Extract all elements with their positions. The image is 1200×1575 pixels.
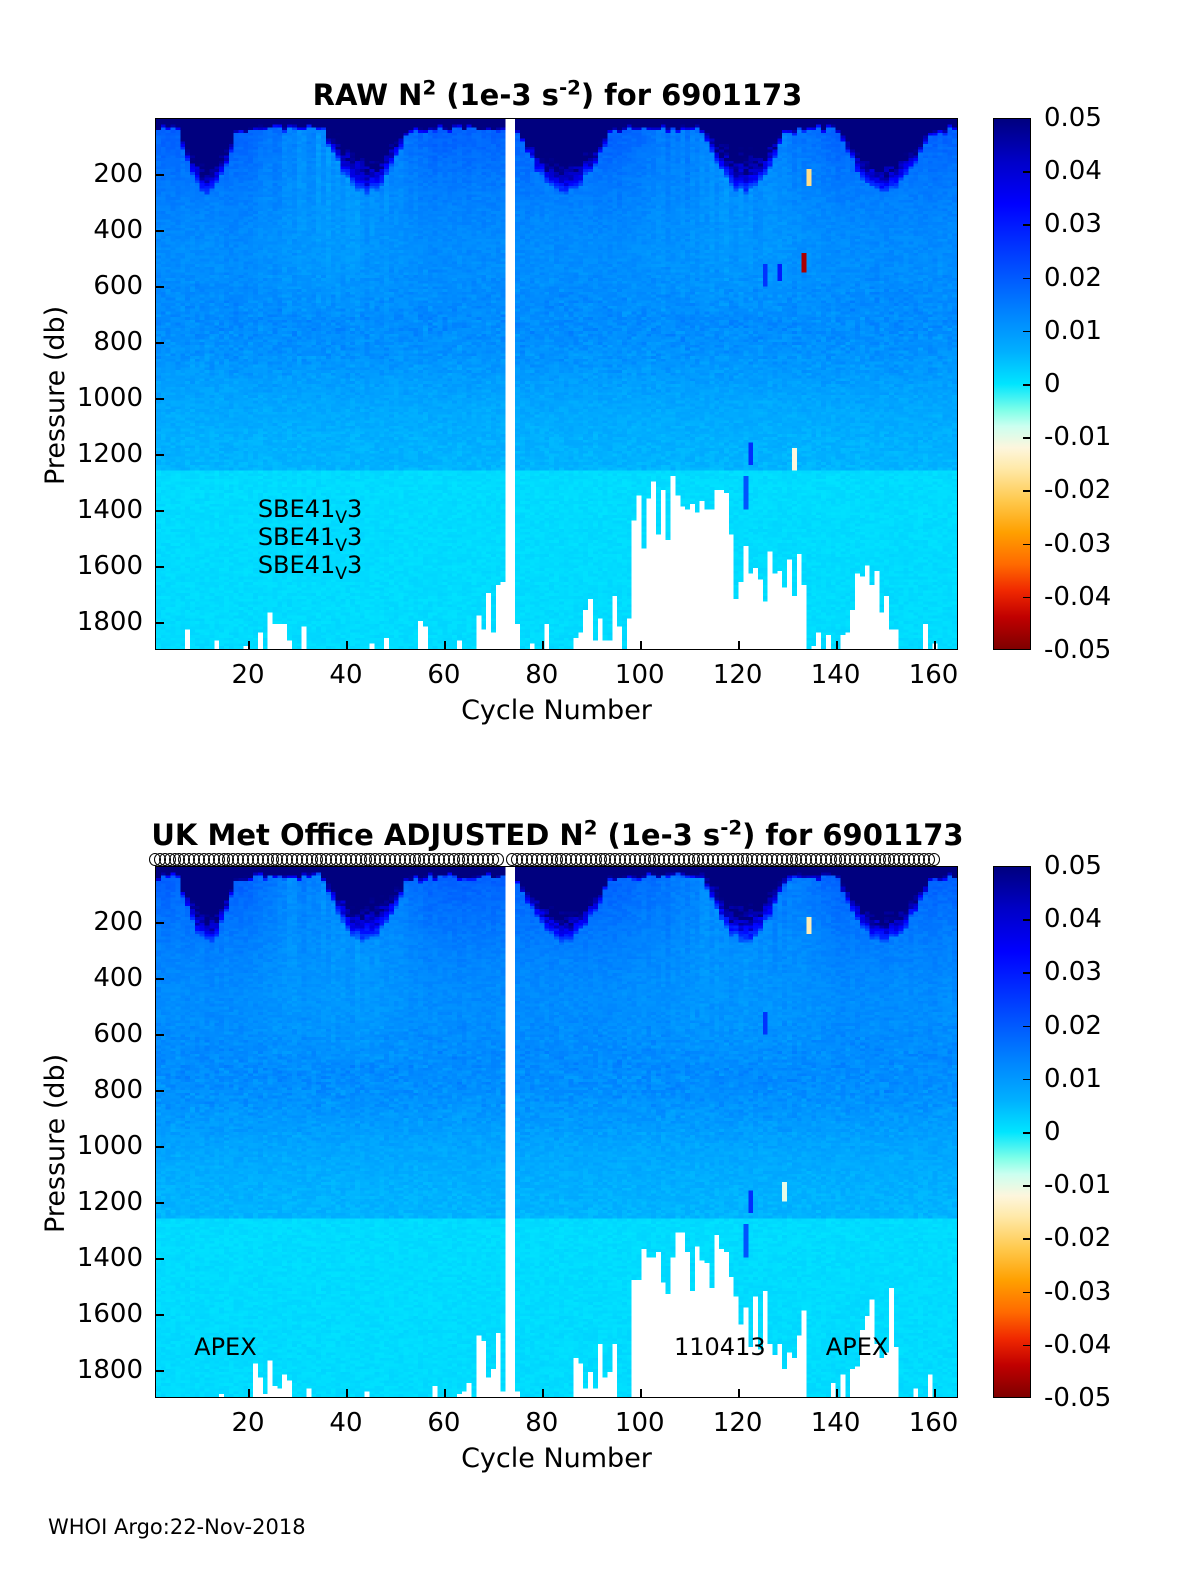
adjusted-heatmap-axes <box>155 866 958 1398</box>
plot-annotation: SBE41V3 <box>258 495 363 523</box>
y-tick-mark <box>155 1258 164 1260</box>
x-tick-label: 120 <box>713 660 763 690</box>
y-tick-label: 600 <box>0 271 143 301</box>
y-tick-label: 1400 <box>0 495 143 525</box>
x-tick-mark <box>444 641 446 650</box>
colorbar-tick-label: 0.01 <box>1044 316 1102 346</box>
colorbar-tick-label: 0.03 <box>1044 957 1102 987</box>
y-tick-mark <box>155 454 164 456</box>
y-tick-label: 200 <box>0 159 143 189</box>
colorbar-tick-label: 0.05 <box>1044 851 1102 881</box>
plot-annotation: APEX <box>826 1333 889 1361</box>
colorbar-tick-mark <box>1023 597 1031 599</box>
colorbar-tick-label: 0 <box>1044 369 1061 399</box>
y-tick-label: 800 <box>0 1075 143 1105</box>
adj-title-prefix: UK Met Office ADJUSTED N <box>151 818 583 852</box>
y-tick-mark <box>155 342 164 344</box>
x-tick-mark <box>934 641 936 650</box>
x-tick-label: 100 <box>615 660 665 690</box>
y-tick-mark <box>155 1370 164 1372</box>
colorbar-tick-label: 0.02 <box>1044 263 1102 293</box>
raw-title-mid: (1e-3 s <box>436 78 559 112</box>
colorbar-tick-label: -0.05 <box>1044 1383 1111 1413</box>
x-tick-label: 40 <box>329 660 362 690</box>
figure-footer: WHOI Argo:22-Nov-2018 <box>48 1515 306 1539</box>
adj-title-mid: (1e-3 s <box>597 818 720 852</box>
plot-annotation: SBE41V3 <box>258 551 363 579</box>
colorbar-tick-mark <box>1023 1345 1031 1347</box>
x-tick-mark <box>542 1389 544 1398</box>
adj-title-suffix: ) for 6901173 <box>742 818 964 852</box>
x-tick-label: 80 <box>525 1408 558 1438</box>
colorbar-tick-label: -0.03 <box>1044 1277 1111 1307</box>
colorbar-tick-mark <box>1023 171 1031 173</box>
x-tick-mark <box>346 641 348 650</box>
colorbar-tick-label: -0.01 <box>1044 1170 1111 1200</box>
raw-title-suffix: ) for 6901173 <box>581 78 803 112</box>
colorbar-tick-mark <box>1023 1292 1031 1294</box>
x-tick-label: 60 <box>427 660 460 690</box>
y-tick-mark <box>155 622 164 624</box>
y-tick-label: 1800 <box>0 1355 143 1385</box>
y-tick-mark <box>155 1034 164 1036</box>
colorbar-tick-mark <box>1023 224 1031 226</box>
y-tick-label: 400 <box>0 215 143 245</box>
y-tick-label: 1000 <box>0 1131 143 1161</box>
adjusted-plot-title: UK Met Office ADJUSTED N2 (1e-3 s-2) for… <box>130 818 985 852</box>
x-tick-mark <box>836 1389 838 1398</box>
y-tick-label: 200 <box>0 907 143 937</box>
x-tick-mark <box>738 1389 740 1398</box>
colorbar-tick-label: -0.02 <box>1044 475 1111 505</box>
annotation-text: SBE41 <box>258 495 335 523</box>
x-tick-mark <box>444 1389 446 1398</box>
annotation-tail: 3 <box>347 495 362 523</box>
y-tick-label: 1000 <box>0 383 143 413</box>
adj-title-sup1: 2 <box>584 816 598 839</box>
colorbar-tick-label: -0.03 <box>1044 529 1111 559</box>
colorbar-tick-mark <box>1023 1079 1031 1081</box>
colorbar-tick-mark <box>1023 1026 1031 1028</box>
raw-title-prefix: RAW N <box>313 78 423 112</box>
annotation-text: SBE41 <box>258 551 335 579</box>
x-tick-label: 20 <box>231 1408 264 1438</box>
y-tick-label: 400 <box>0 963 143 993</box>
y-tick-label: 1600 <box>0 551 143 581</box>
colorbar-tick-label: 0.02 <box>1044 1011 1102 1041</box>
raw-x-axis-label: Cycle Number <box>155 695 958 726</box>
x-tick-mark <box>836 641 838 650</box>
colorbar-tick-label: 0.01 <box>1044 1064 1102 1094</box>
x-tick-label: 160 <box>909 660 959 690</box>
colorbar-tick-label: 0.04 <box>1044 904 1102 934</box>
colorbar-tick-label: 0.03 <box>1044 209 1102 239</box>
y-tick-label: 600 <box>0 1019 143 1049</box>
colorbar-tick-mark <box>1023 490 1031 492</box>
colorbar-tick-label: -0.04 <box>1044 582 1111 612</box>
x-tick-mark <box>934 1389 936 1398</box>
annotation-tail: 3 <box>347 523 362 551</box>
y-tick-label: 1200 <box>0 439 143 469</box>
colorbar-tick-mark <box>1023 1185 1031 1187</box>
y-tick-label: 1200 <box>0 1187 143 1217</box>
x-tick-label: 40 <box>329 1408 362 1438</box>
x-tick-label: 20 <box>231 660 264 690</box>
y-tick-mark <box>155 174 164 176</box>
y-tick-mark <box>155 1090 164 1092</box>
colorbar-tick-mark <box>1023 972 1031 974</box>
x-tick-label: 160 <box>909 1408 959 1438</box>
colorbar-tick-mark <box>1023 278 1031 280</box>
x-tick-label: 120 <box>713 1408 763 1438</box>
y-tick-mark <box>155 1202 164 1204</box>
x-tick-mark <box>248 641 250 650</box>
y-tick-mark <box>155 286 164 288</box>
y-tick-mark <box>155 566 164 568</box>
colorbar-tick-label: -0.02 <box>1044 1223 1111 1253</box>
adjusted-heatmap-image <box>156 867 957 1397</box>
y-tick-mark <box>155 1314 164 1316</box>
x-tick-mark <box>640 641 642 650</box>
y-tick-mark <box>155 978 164 980</box>
x-tick-mark <box>738 641 740 650</box>
colorbar-tick-mark <box>1023 544 1031 546</box>
colorbar-tick-label: -0.05 <box>1044 635 1111 665</box>
x-tick-label: 60 <box>427 1408 460 1438</box>
plot-annotation: 110413 <box>674 1333 766 1361</box>
x-tick-label: 140 <box>811 1408 861 1438</box>
raw-title-sup2: -2 <box>559 76 581 99</box>
colorbar-tick-mark <box>1023 1238 1031 1240</box>
annotation-text: SBE41 <box>258 523 335 551</box>
plot-annotation: SBE41V3 <box>258 523 363 551</box>
x-tick-label: 100 <box>615 1408 665 1438</box>
y-tick-label: 1600 <box>0 1299 143 1329</box>
colorbar-tick-label: 0.05 <box>1044 103 1102 133</box>
x-tick-mark <box>346 1389 348 1398</box>
colorbar-tick-mark <box>1023 437 1031 439</box>
y-tick-mark <box>155 1146 164 1148</box>
annotation-subscript: V <box>335 564 347 584</box>
colorbar-tick-mark <box>1023 384 1031 386</box>
raw-title-sup1: 2 <box>422 76 436 99</box>
x-tick-mark <box>248 1389 250 1398</box>
x-tick-mark <box>542 641 544 650</box>
y-tick-label: 800 <box>0 327 143 357</box>
colorbar-tick-label: -0.04 <box>1044 1330 1111 1360</box>
y-tick-label: 1800 <box>0 607 143 637</box>
colorbar-tick-label: -0.01 <box>1044 422 1111 452</box>
cycle-marker <box>492 853 504 866</box>
cycle-marker <box>928 853 940 866</box>
plot-annotation: APEX <box>194 1333 257 1361</box>
adj-title-sup2: -2 <box>720 816 742 839</box>
colorbar-tick-label: 0 <box>1044 1117 1061 1147</box>
colorbar-tick-label: 0.04 <box>1044 156 1102 186</box>
colorbar-tick-mark <box>1023 919 1031 921</box>
annotation-tail: 3 <box>347 551 362 579</box>
y-tick-mark <box>155 510 164 512</box>
adjusted-x-axis-label: Cycle Number <box>155 1443 958 1474</box>
x-tick-label: 140 <box>811 660 861 690</box>
x-tick-label: 80 <box>525 660 558 690</box>
raw-plot-title: RAW N2 (1e-3 s-2) for 6901173 <box>155 78 960 112</box>
colorbar-tick-mark <box>1023 1132 1031 1134</box>
y-tick-mark <box>155 922 164 924</box>
colorbar-tick-mark <box>1023 331 1031 333</box>
y-tick-mark <box>155 230 164 232</box>
x-tick-mark <box>640 1389 642 1398</box>
y-tick-mark <box>155 398 164 400</box>
y-tick-label: 1400 <box>0 1243 143 1273</box>
